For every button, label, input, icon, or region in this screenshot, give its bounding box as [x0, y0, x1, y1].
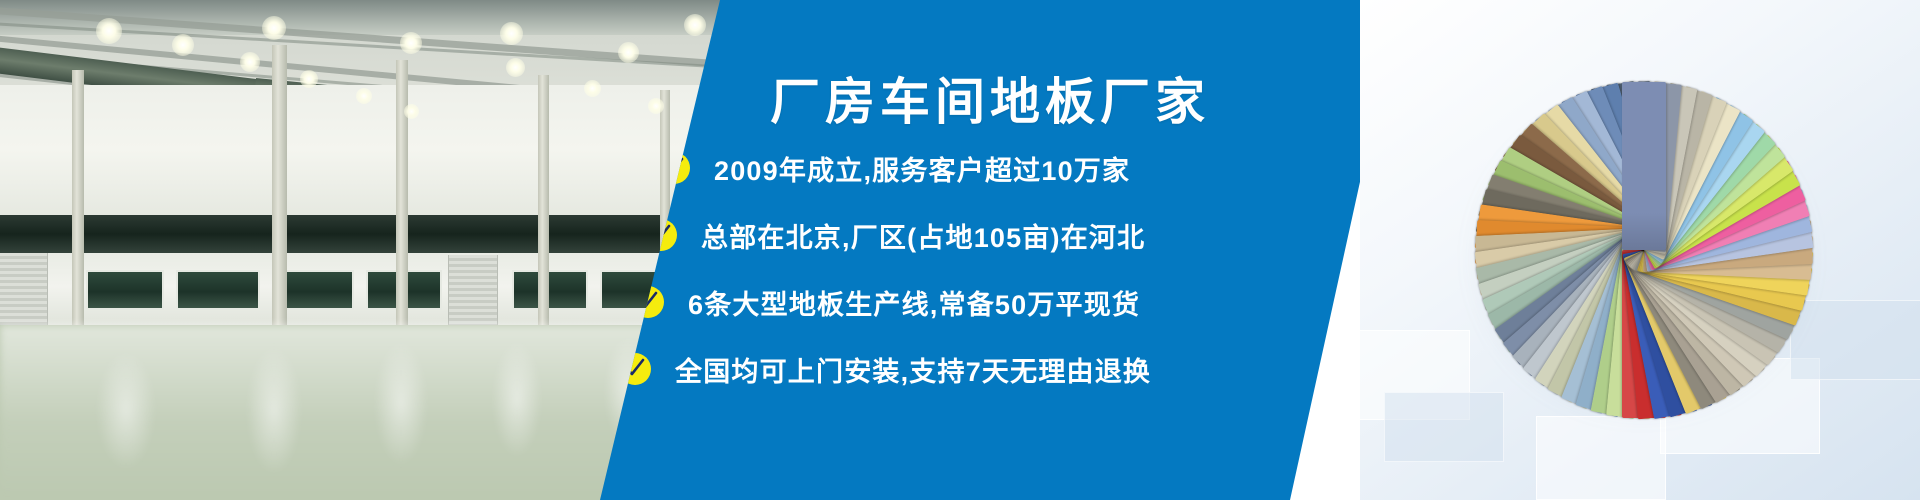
list-item: 2009年成立,服务客户超过10万家 [600, 140, 1400, 196]
ceiling-lamp [618, 42, 639, 63]
ceiling-lamp [172, 34, 194, 56]
list-item: 总部在北京,厂区(占地105亩)在河北 [600, 207, 1400, 263]
roller-shutter-door [448, 255, 498, 328]
ceiling-lamp [506, 58, 525, 77]
list-item-label: 2009年成立,服务客户超过10万家 [714, 149, 1130, 188]
ceiling-lamp [684, 14, 706, 36]
steel-column [72, 70, 84, 330]
ceiling-lamp [400, 32, 422, 54]
page-title: 厂房车间地板厂家 [770, 62, 1210, 134]
color-sample-fan [1458, 64, 1830, 436]
blue-message-panel: 厂房车间地板厂家 2009年成立,服务客户超过10万家 [600, 0, 1400, 500]
ceiling-lamp [404, 104, 419, 119]
ceiling-lamp [356, 88, 372, 104]
flooring-sample-blade [1622, 82, 1666, 250]
ceiling-lamp [648, 98, 664, 114]
list-item-label: 全国均可上门安装,支持7天无理由退换 [675, 350, 1151, 389]
roller-shutter-door [0, 253, 48, 328]
ceiling-lamp [96, 18, 122, 44]
floor-light-reflection [246, 345, 302, 475]
ceiling-lamp [240, 52, 260, 72]
feature-list: 2009年成立,服务客户超过10万家 总部在北京,厂区(占地105亩)在河北 [600, 140, 1400, 408]
window-pane [176, 270, 260, 310]
window-pane [512, 270, 588, 310]
promo-banner: 厂房车间地板厂家 2009年成立,服务客户超过10万家 [0, 0, 1920, 500]
pvc-flooring-color-samples-fan [1360, 0, 1920, 500]
floor-light-reflection [492, 340, 542, 458]
ceiling-lamp [300, 70, 318, 88]
steel-column [538, 75, 549, 330]
list-item: 6条大型地板生产线,常备50万平现货 [600, 274, 1400, 330]
floor-light-reflection [96, 350, 156, 470]
steel-column [272, 45, 287, 330]
ceiling-lamp [262, 16, 286, 40]
window-pane [86, 270, 164, 310]
list-item: 全国均可上门安装,支持7天无理由退换 [600, 341, 1400, 397]
steel-column [396, 60, 408, 330]
fan-blade-group [1458, 64, 1830, 436]
ceiling-lamp [584, 80, 601, 97]
ceiling-lamp [500, 22, 523, 45]
list-item-label: 总部在北京,厂区(占地105亩)在河北 [701, 216, 1145, 255]
list-item-label: 6条大型地板生产线,常备50万平现货 [688, 283, 1140, 322]
floor-light-reflection [374, 340, 428, 466]
